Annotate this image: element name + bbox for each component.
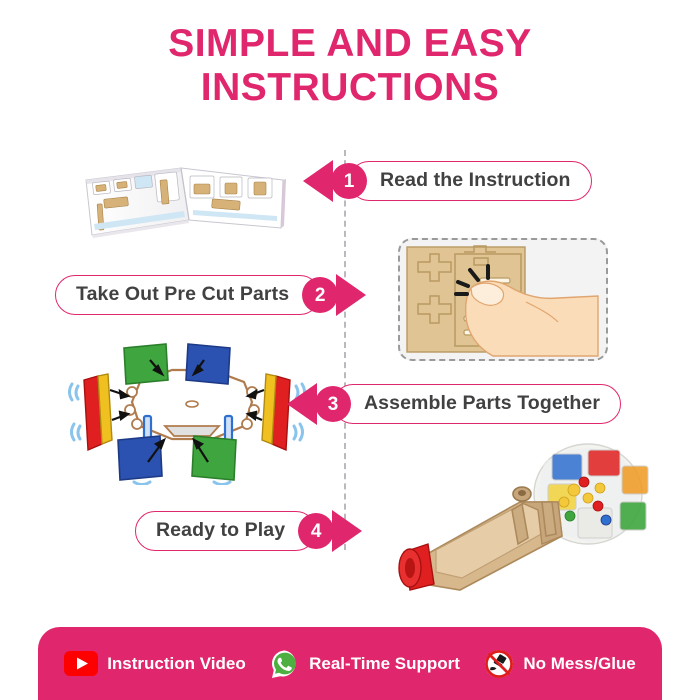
youtube-play-icon bbox=[64, 651, 98, 676]
step-badge-1: 1 bbox=[331, 163, 367, 199]
step-row-1: 1 Read the Instruction bbox=[303, 159, 592, 203]
step-badge-2: 2 bbox=[302, 277, 338, 313]
footer-item-no-mess-glue[interactable]: No Mess/Glue bbox=[484, 649, 635, 679]
footer-label-no-mess-glue: No Mess/Glue bbox=[523, 655, 635, 672]
footer-item-instruction-video[interactable]: Instruction Video bbox=[64, 651, 246, 676]
footer-label-instruction-video: Instruction Video bbox=[107, 655, 246, 672]
step-badge-4: 4 bbox=[298, 513, 334, 549]
step-label-3: Assemble Parts Together bbox=[364, 394, 600, 414]
finished-toy-illustration bbox=[392, 432, 660, 597]
arrow-left-icon bbox=[287, 383, 317, 425]
step-label-2: Take Out Pre Cut Parts bbox=[76, 285, 289, 305]
footer-bar: Instruction Video Real-Time Support bbox=[38, 627, 662, 700]
title-line-2: INSTRUCTIONS bbox=[0, 66, 700, 110]
page-title: SIMPLE AND EASY INSTRUCTIONS bbox=[0, 22, 700, 111]
step-label-1: Read the Instruction bbox=[380, 171, 571, 191]
infographic-root: SIMPLE AND EASY INSTRUCTIONS bbox=[0, 0, 700, 700]
step-row-4: Ready to Play 4 bbox=[135, 509, 362, 553]
step-pill-4[interactable]: Ready to Play bbox=[135, 511, 316, 551]
footer-item-real-time-support[interactable]: Real-Time Support bbox=[270, 649, 460, 679]
step-label-4: Ready to Play bbox=[156, 521, 285, 541]
assembly-diagram-illustration bbox=[62, 340, 312, 485]
step-pill-1[interactable]: Read the Instruction bbox=[349, 161, 592, 201]
footer-label-real-time-support: Real-Time Support bbox=[309, 655, 460, 672]
arrow-left-icon bbox=[303, 160, 333, 202]
title-line-1: SIMPLE AND EASY bbox=[168, 22, 532, 65]
no-glue-prohibition-icon bbox=[484, 649, 514, 679]
step-badge-3: 3 bbox=[315, 386, 351, 422]
step-connector-dashed-line bbox=[344, 150, 346, 550]
whatsapp-icon bbox=[270, 649, 300, 679]
step-pill-3[interactable]: Assemble Parts Together bbox=[333, 384, 621, 424]
instruction-booklet-illustration bbox=[78, 132, 303, 242]
arrow-right-icon bbox=[332, 510, 362, 552]
precut-parts-illustration bbox=[398, 238, 608, 361]
step-row-3: 3 Assemble Parts Together bbox=[287, 382, 621, 426]
step-row-2: Take Out Pre Cut Parts 2 bbox=[55, 273, 366, 317]
arrow-right-icon bbox=[336, 274, 366, 316]
step-pill-2[interactable]: Take Out Pre Cut Parts bbox=[55, 275, 320, 315]
